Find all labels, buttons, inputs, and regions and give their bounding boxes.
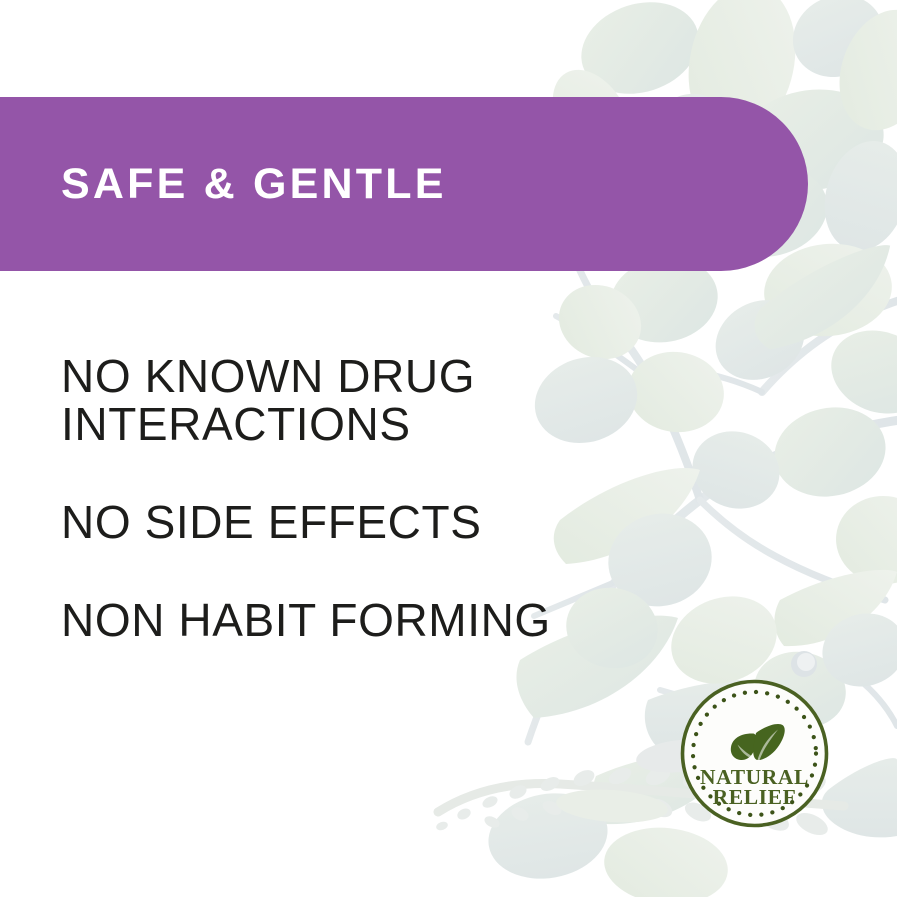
safe-and-gentle-banner: SAFE & GENTLE	[0, 97, 808, 271]
benefit-non-habit-forming: NON HABIT FORMING	[61, 596, 681, 644]
benefits-list: NO KNOWN DRUG INTERACTIONS NO SIDE EFFEC…	[61, 352, 681, 644]
benefit-no-side-effects: NO SIDE EFFECTS	[61, 498, 681, 546]
safe-and-gentle-infographic: SAFE & GENTLE NO KNOWN DRUG INTERACTIONS…	[0, 0, 897, 897]
benefit-no-known-drug-interactions: NO KNOWN DRUG INTERACTIONS	[61, 352, 681, 448]
natural-relief-badge: NATURAL RELIEF	[679, 678, 830, 829]
banner-title: SAFE & GENTLE	[61, 163, 447, 206]
badge-line-relief: RELIEF	[713, 785, 797, 809]
